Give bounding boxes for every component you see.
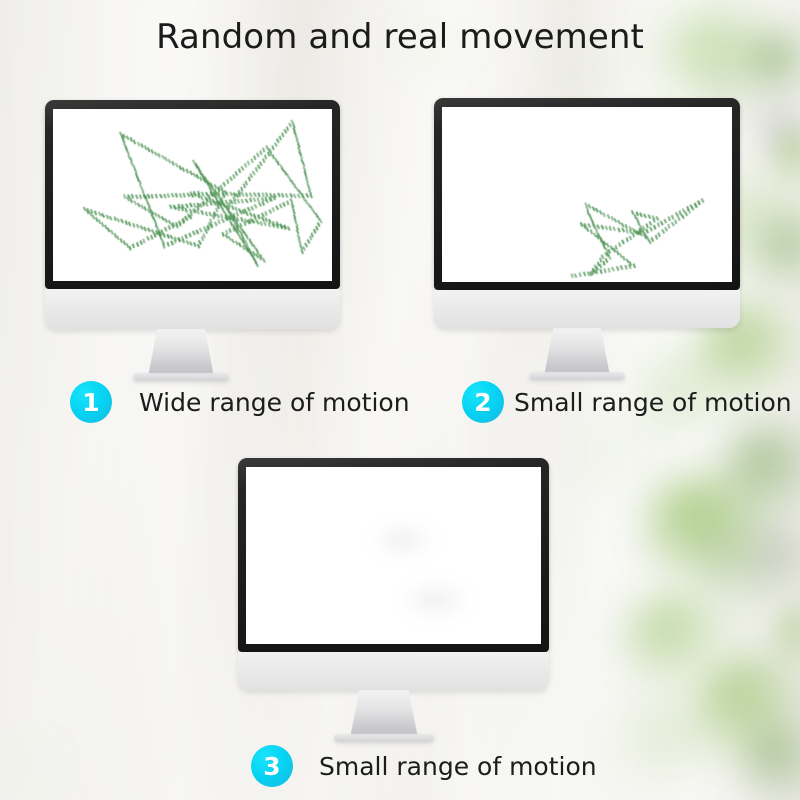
monitor-1 bbox=[45, 100, 340, 365]
caption-label-3: Small range of motion bbox=[319, 752, 597, 781]
monitor-2-mouse-trail bbox=[442, 107, 732, 282]
badge-number-2: 2 bbox=[462, 381, 504, 423]
monitor-2-base bbox=[529, 372, 625, 380]
monitor-2 bbox=[434, 98, 740, 363]
monitor-3-base bbox=[334, 734, 434, 742]
monitor-1-bezel bbox=[45, 100, 340, 289]
monitor-2-bezel bbox=[434, 98, 740, 290]
monitor-1-neck bbox=[148, 329, 214, 377]
badge-number-3: 3 bbox=[251, 745, 293, 787]
monitor-3-chin bbox=[238, 652, 549, 690]
monitor-2-neck bbox=[544, 328, 610, 376]
monitor-1-screen bbox=[53, 109, 332, 281]
monitor-2-screen bbox=[442, 107, 732, 282]
page-title: Random and real movement bbox=[0, 18, 800, 57]
monitor-1-base bbox=[133, 373, 229, 381]
monitor-1-chin bbox=[45, 289, 340, 329]
badge-number-1: 1 bbox=[70, 381, 112, 423]
monitor-3-smudge-lower bbox=[399, 584, 471, 616]
monitor-3-screen bbox=[246, 467, 541, 644]
caption-1: 1 Wide range of motion bbox=[70, 381, 410, 423]
monitor-1-mouse-trail bbox=[53, 109, 332, 281]
monitor-3-neck bbox=[350, 690, 418, 738]
monitor-2-chin bbox=[434, 290, 740, 328]
caption-label-1: Wide range of motion bbox=[139, 388, 410, 417]
caption-label-2: Small range of motion bbox=[514, 388, 792, 417]
monitor-3-bezel bbox=[238, 458, 549, 652]
caption-2: 2 Small range of motion bbox=[462, 381, 792, 423]
product-infographic: Random and real movement bbox=[0, 0, 800, 800]
monitor-3-mouse-trail bbox=[246, 467, 541, 644]
caption-3: 3 Small range of motion bbox=[251, 745, 597, 787]
monitor-3 bbox=[238, 458, 549, 728]
